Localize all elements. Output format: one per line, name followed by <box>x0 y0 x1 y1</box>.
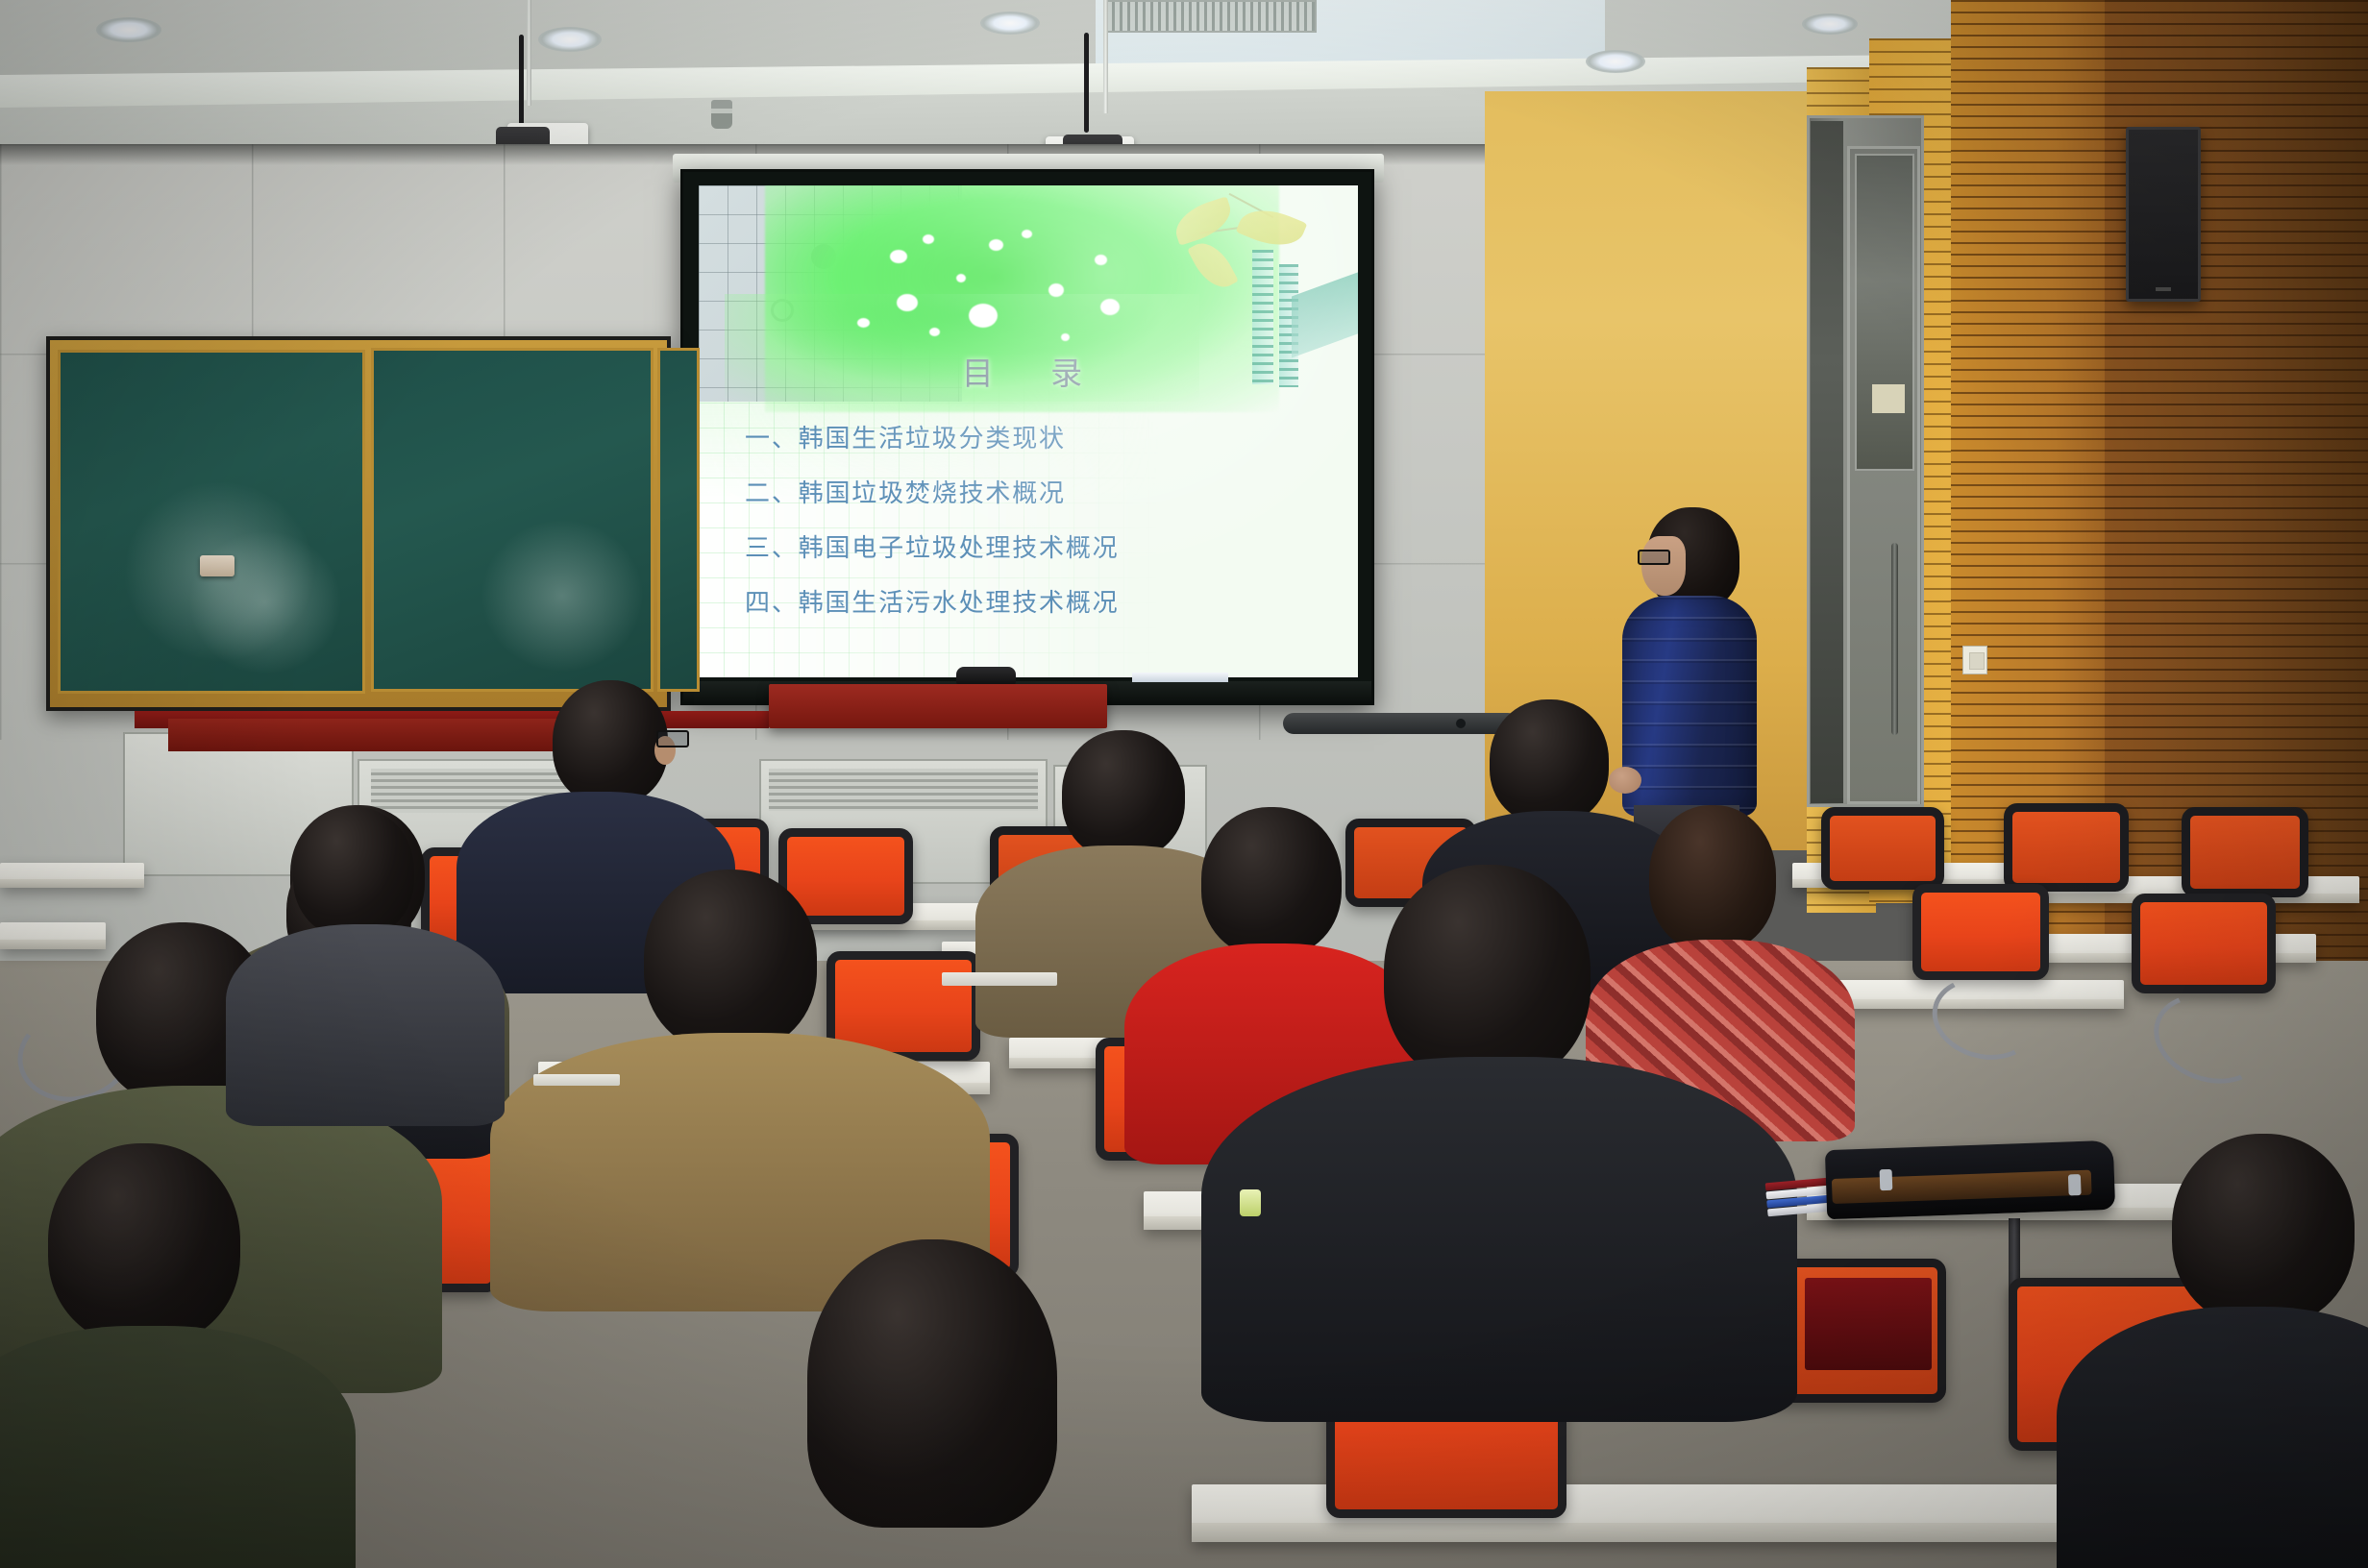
projector-cable <box>1084 33 1089 133</box>
red-laptop[interactable] <box>1805 1278 1932 1370</box>
light-switch[interactable] <box>1962 646 1987 674</box>
chalkboard-panel-right <box>657 348 700 692</box>
classroom-photo-scene: 目 录 一、韩国生活垃圾分类现状 二、韩国垃圾焚烧技术概况 三、韩国电子垃圾处理… <box>0 0 2368 1568</box>
downlight-icon <box>96 17 161 42</box>
student-head <box>644 870 817 1052</box>
water-droplet-icon <box>956 274 966 282</box>
door-window-glass <box>1855 154 1914 471</box>
door-handle[interactable] <box>1891 543 1898 735</box>
student-head <box>807 1239 1057 1528</box>
water-droplet-icon <box>1048 283 1064 297</box>
projector-mount-pole <box>527 0 531 106</box>
sprinkler-head-icon <box>711 100 732 129</box>
chair[interactable] <box>2132 894 2276 993</box>
student-black-puffer <box>1278 865 1691 1364</box>
desk-item <box>942 972 1057 986</box>
right-wall-slat-dark <box>1951 0 2124 942</box>
chair[interactable] <box>1821 807 1944 890</box>
student-jacket <box>1201 1057 1797 1422</box>
eyeglasses-icon <box>656 730 689 747</box>
water-droplet-icon <box>1095 255 1107 265</box>
desk-item <box>533 1074 620 1086</box>
chair[interactable] <box>2004 803 2129 892</box>
slide-outline-list: 一、韩国生活垃圾分类现状 二、韩国垃圾焚烧技术概况 三、韩国电子垃圾处理技术概况… <box>745 427 1338 646</box>
projected-slide: 目 录 一、韩国生活垃圾分类现状 二、韩国垃圾焚烧技术概况 三、韩国电子垃圾处理… <box>699 185 1358 677</box>
desk <box>0 863 144 888</box>
student-front-left-crop <box>0 1143 288 1566</box>
eyeglasses-icon <box>1638 550 1670 565</box>
chalk-eraser[interactable] <box>200 555 234 576</box>
slide-outline-item: 一、韩国生活垃圾分类现状 <box>745 427 1338 453</box>
downlight-icon <box>980 12 1040 35</box>
water-droplet-icon <box>890 250 907 263</box>
black-shoulder-bag[interactable] <box>1825 1140 2115 1219</box>
student-gray-jacket <box>274 807 485 1095</box>
student-head <box>1490 699 1609 824</box>
student-jacket <box>0 1326 356 1568</box>
water-droplet-icon <box>857 318 870 328</box>
chair[interactable] <box>1912 884 2049 980</box>
student-head <box>1384 865 1591 1086</box>
water-droplet-icon <box>897 294 918 311</box>
student-tan-jacket <box>577 870 903 1273</box>
downlight-icon <box>1802 13 1858 35</box>
chalk-smudge <box>481 519 644 673</box>
student-dark-coat-front <box>2076 1134 2368 1568</box>
door-sidelight-glass <box>1811 121 1843 803</box>
bag-buckle-icon <box>2068 1174 2082 1195</box>
cabinet-vent-icon <box>769 769 1038 811</box>
water-droplet-icon <box>1061 333 1070 341</box>
student-head <box>48 1143 240 1345</box>
projector-mount-pole <box>1103 0 1108 113</box>
small-bottle[interactable] <box>1240 1189 1261 1216</box>
slide-title: 目 录 <box>699 348 1358 394</box>
student-long-hair <box>730 1239 1134 1568</box>
slide-building-roof-icon <box>1292 271 1358 358</box>
bag-flap <box>1832 1170 2092 1204</box>
student-jacket <box>226 924 505 1126</box>
chair[interactable] <box>2182 807 2308 897</box>
slide-outline-item: 三、韩国电子垃圾处理技术概况 <box>745 536 1338 562</box>
wall-speaker-icon <box>2126 127 2201 302</box>
water-droplet-icon <box>969 304 998 328</box>
chalk-smudge <box>188 530 342 674</box>
student-jacket <box>2057 1307 2368 1568</box>
projector-cable <box>519 35 524 127</box>
student-head <box>2172 1134 2355 1326</box>
bag-buckle-icon <box>1880 1169 1893 1190</box>
student-head <box>293 807 414 938</box>
ceiling-vent-icon <box>1105 0 1317 33</box>
podium-control-device[interactable] <box>956 667 1016 684</box>
downlight-icon <box>1586 50 1645 73</box>
projection-screen: 目 录 一、韩国生活垃圾分类现状 二、韩国垃圾焚烧技术概况 三、韩国电子垃圾处理… <box>680 169 1374 705</box>
slide-outline-item: 四、韩国生活污水处理技术概况 <box>745 591 1338 617</box>
podium[interactable] <box>769 684 1107 728</box>
downlight-icon <box>538 27 602 52</box>
podium-paper-sheet <box>1132 673 1228 682</box>
student-head <box>553 680 668 805</box>
slide-outline-item: 二、韩国垃圾焚烧技术概况 <box>745 481 1338 507</box>
door-label-plate <box>1872 384 1905 413</box>
presenter-face <box>1641 536 1686 596</box>
